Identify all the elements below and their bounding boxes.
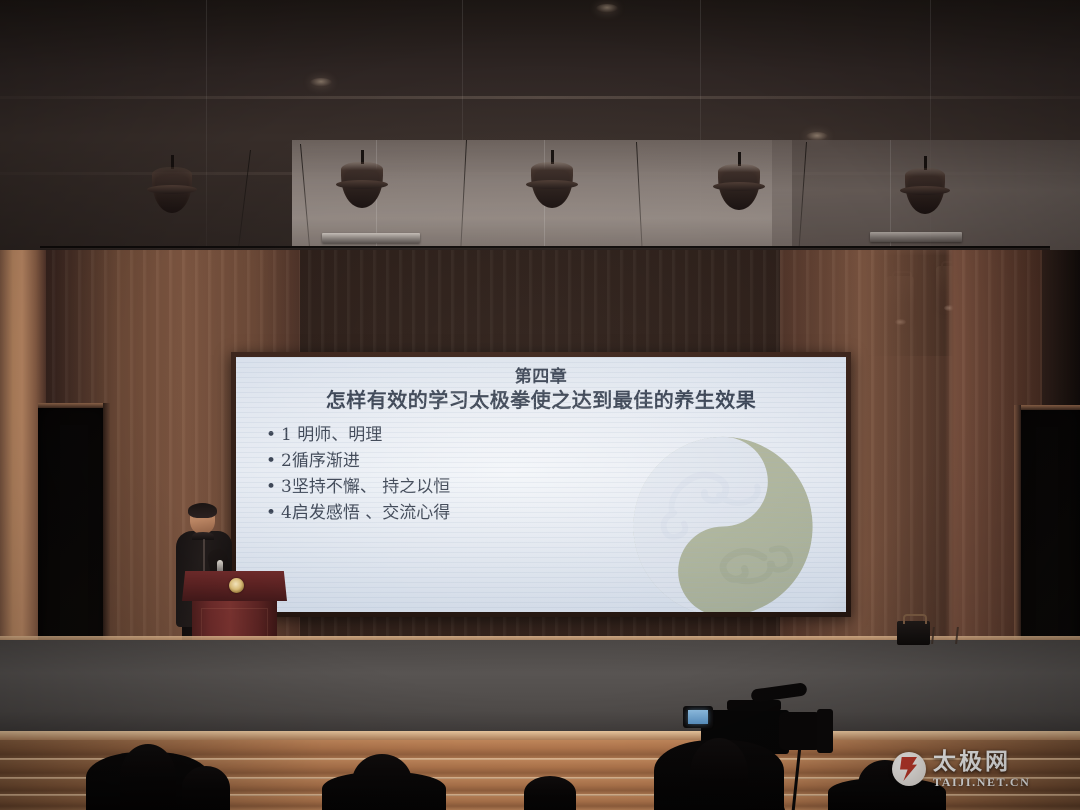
recessed-downlight	[596, 4, 618, 13]
ceiling-vent	[322, 233, 420, 243]
stage-front-edge	[0, 731, 1080, 740]
projection-screen: 第四章 怎样有效的学习太极拳使之达到最佳的养生效果 1 明师、明理 2循序渐进 …	[231, 352, 851, 617]
camera-top-handle	[727, 700, 781, 711]
camera-cable	[792, 746, 802, 810]
watermark-name-en: TAIJI.NET.CN	[933, 776, 1030, 788]
taiji-dragons-emblem	[618, 429, 828, 612]
audience-head	[690, 738, 748, 810]
camera-lcd-screen	[683, 706, 713, 728]
list-item: 2循序渐进	[266, 449, 450, 473]
camera-lens-hood	[817, 709, 833, 753]
presenter-hair	[188, 503, 217, 518]
list-item: 3坚持不懈、 持之以恒	[266, 475, 450, 499]
auditorium-photo: 第四章 怎样有效的学习太极拳使之达到最佳的养生效果 1 明师、明理 2循序渐进 …	[0, 0, 1080, 810]
slide-title: 第四章 怎样有效的学习太极拳使之达到最佳的养生效果	[236, 367, 846, 413]
watermark-name-cn: 太极网	[933, 750, 1030, 773]
taiji-logo-icon	[892, 752, 926, 786]
slide-bullet-list: 1 明师、明理 2循序渐进 3坚持不懈、 持之以恒 4启发感悟 、交流心得	[266, 423, 450, 527]
audience-head	[120, 744, 176, 810]
folding-stand	[931, 627, 959, 644]
audience-head	[182, 766, 230, 810]
black-equipment-case	[897, 621, 930, 645]
slide-heading: 怎样有效的学习太极拳使之达到最佳的养生效果	[236, 387, 846, 413]
audience-shoulders	[322, 772, 446, 810]
ceiling-vent	[870, 232, 962, 242]
site-watermark: 太极网 TAIJI.NET.CN	[892, 742, 1072, 796]
recessed-downlight	[310, 78, 332, 87]
stage-floor	[0, 640, 1080, 735]
slide-surface: 第四章 怎样有效的学习太极拳使之达到最佳的养生效果 1 明师、明理 2循序渐进 …	[236, 357, 846, 612]
gold-circular-crest	[229, 578, 244, 593]
slide-chapter-label: 第四章	[236, 367, 846, 387]
list-item: 1 明师、明理	[266, 423, 450, 447]
case-handle	[903, 614, 927, 624]
audience-head	[524, 776, 576, 810]
list-item: 4启发感悟 、交流心得	[266, 501, 450, 525]
